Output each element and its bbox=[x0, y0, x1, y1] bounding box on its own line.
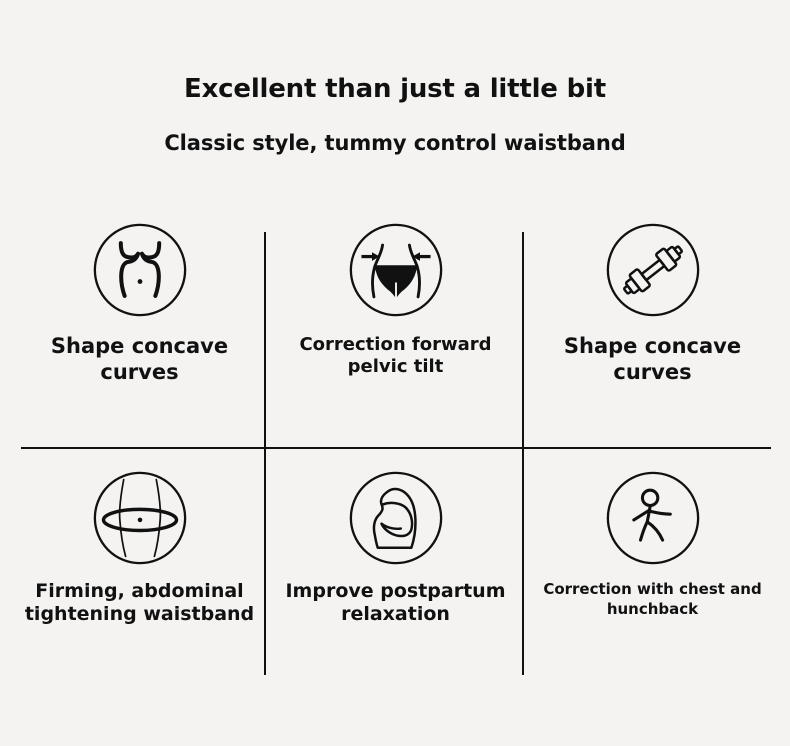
feature-cell-firming-abdominal-tightening-waistband: Firming, abdominal tightening waistband bbox=[8, 470, 271, 626]
feature-cell-improve-postpartum-relaxation: Improve postpartum relaxation bbox=[264, 470, 527, 626]
feature-label: Shape concave curves bbox=[528, 334, 778, 385]
feature-label: Correction forward pelvic tilt bbox=[271, 334, 521, 378]
feature-label: Firming, abdominal tightening waistband bbox=[15, 580, 265, 626]
feature-label: Shape concave curves bbox=[15, 334, 265, 385]
page-title: Excellent than just a little bit bbox=[0, 74, 790, 105]
walking-person-icon bbox=[605, 470, 701, 566]
hips-arrows-icon bbox=[348, 222, 444, 318]
dumbbell-icon bbox=[605, 222, 701, 318]
feature-cell-correction-with-chest-and-hunchback: Correction with chest and hunchback bbox=[521, 470, 784, 619]
page-subtitle: Classic style, tummy control waistband bbox=[0, 131, 790, 156]
feature-label: Improve postpartum relaxation bbox=[271, 580, 521, 626]
promo-feature-panel: Excellent than just a little bit Classic… bbox=[0, 0, 790, 746]
feature-grid: Shape concave curves bbox=[0, 222, 790, 692]
header-block: Excellent than just a little bit Classic… bbox=[0, 74, 790, 156]
feature-cell-shape-concave-curves-top: Shape concave curves bbox=[8, 222, 271, 385]
feature-cell-shape-concave-curves-right: Shape concave curves bbox=[521, 222, 784, 385]
feature-cell-correction-forward-pelvic-tilt: Correction forward pelvic tilt bbox=[264, 222, 527, 378]
feature-label: Correction with chest and hunchback bbox=[528, 580, 778, 619]
pregnant-belly-icon bbox=[348, 470, 444, 566]
waist-torso-icon bbox=[92, 222, 188, 318]
waistband-belt-icon bbox=[92, 470, 188, 566]
